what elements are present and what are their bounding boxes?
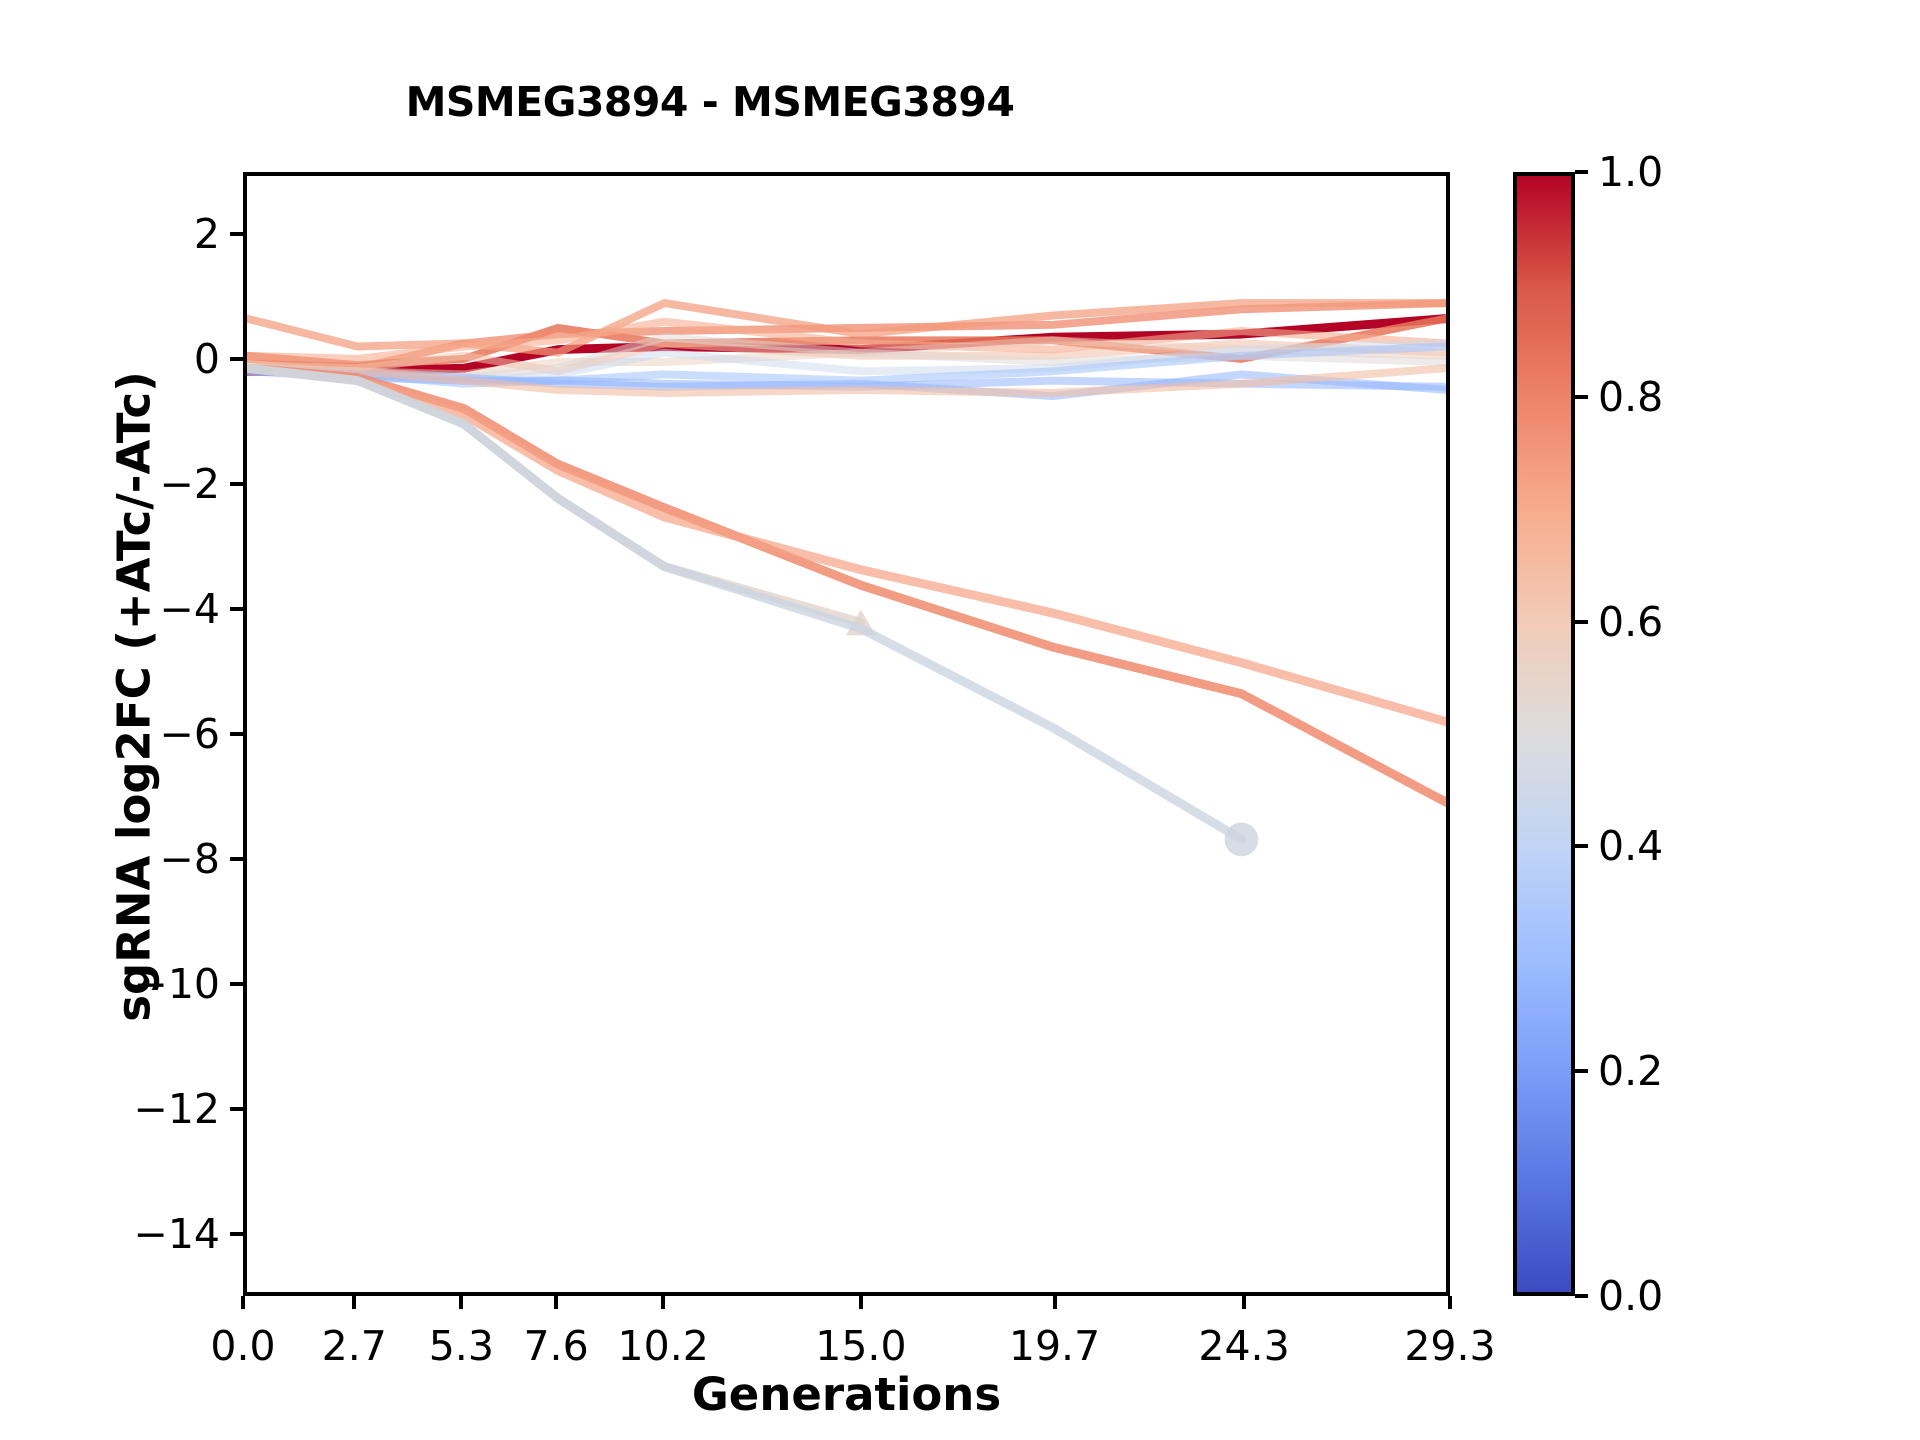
series-canvas (247, 176, 1446, 1292)
colorbar-tick-label: 0.6 (1598, 598, 1663, 646)
y-tick-mark (230, 857, 243, 861)
colorbar-tick-mark (1575, 844, 1588, 848)
x-tick-label: 7.6 (523, 1322, 588, 1370)
y-tick-mark (230, 982, 243, 986)
y-tick-label: −2 (160, 460, 220, 508)
x-axis-title: Generations (243, 1368, 1450, 1421)
x-tick-mark (661, 1296, 665, 1309)
x-tick-label: 19.7 (1009, 1322, 1100, 1370)
y-tick-mark (230, 1107, 243, 1111)
y-tick-label: −8 (160, 835, 220, 883)
plot-area (243, 172, 1450, 1296)
chart-figure: MSMEG3894 - MSMEG3894 20−2−4−6−8−10−12−1… (0, 0, 1920, 1440)
y-tick-mark (230, 232, 243, 236)
x-tick-label: 0.0 (210, 1322, 275, 1370)
series-line (247, 368, 1241, 839)
x-tick-mark (241, 1296, 245, 1309)
x-tick-mark (352, 1296, 356, 1309)
series-line (247, 368, 1446, 721)
x-tick-label: 15.0 (815, 1322, 906, 1370)
colorbar-tick-mark (1575, 1294, 1588, 1298)
colorbar-tick-mark (1575, 170, 1588, 174)
colorbar-tick-label: 0.2 (1598, 1047, 1663, 1095)
y-tick-label: 2 (194, 210, 220, 258)
y-tick-label: −6 (160, 710, 220, 758)
colorbar-tick-mark (1575, 620, 1588, 624)
y-tick-mark (230, 1232, 243, 1236)
series-line (247, 368, 1446, 802)
x-tick-mark (554, 1296, 558, 1309)
y-tick-mark (230, 607, 243, 611)
y-tick-label: 0 (194, 335, 220, 383)
x-tick-mark (1448, 1296, 1452, 1309)
x-tick-label: 5.3 (429, 1322, 494, 1370)
x-tick-label: 29.3 (1404, 1322, 1495, 1370)
x-tick-mark (459, 1296, 463, 1309)
series-marker-circle (1225, 823, 1259, 857)
x-tick-mark (859, 1296, 863, 1309)
x-tick-mark (1053, 1296, 1057, 1309)
colorbar (1513, 172, 1575, 1296)
colorbar-tick-label: 1.0 (1598, 148, 1663, 196)
y-tick-mark (230, 732, 243, 736)
y-tick-mark (230, 357, 243, 361)
y-tick-label: −4 (160, 585, 220, 633)
x-tick-mark (1242, 1296, 1246, 1309)
y-axis-title: sgRNA log2FC (+ATc/-ATc) (108, 135, 161, 1259)
colorbar-gradient (1513, 172, 1575, 1296)
x-tick-label: 10.2 (618, 1322, 709, 1370)
colorbar-tick-label: 0.4 (1598, 822, 1663, 870)
colorbar-tick-mark (1575, 1069, 1588, 1073)
colorbar-tick-mark (1575, 395, 1588, 399)
chart-title: MSMEG3894 - MSMEG3894 (240, 78, 1180, 126)
y-tick-mark (230, 482, 243, 486)
colorbar-tick-label: 0.8 (1598, 373, 1663, 421)
x-tick-label: 24.3 (1198, 1322, 1289, 1370)
x-tick-label: 2.7 (322, 1322, 387, 1370)
colorbar-tick-label: 0.0 (1598, 1272, 1663, 1320)
